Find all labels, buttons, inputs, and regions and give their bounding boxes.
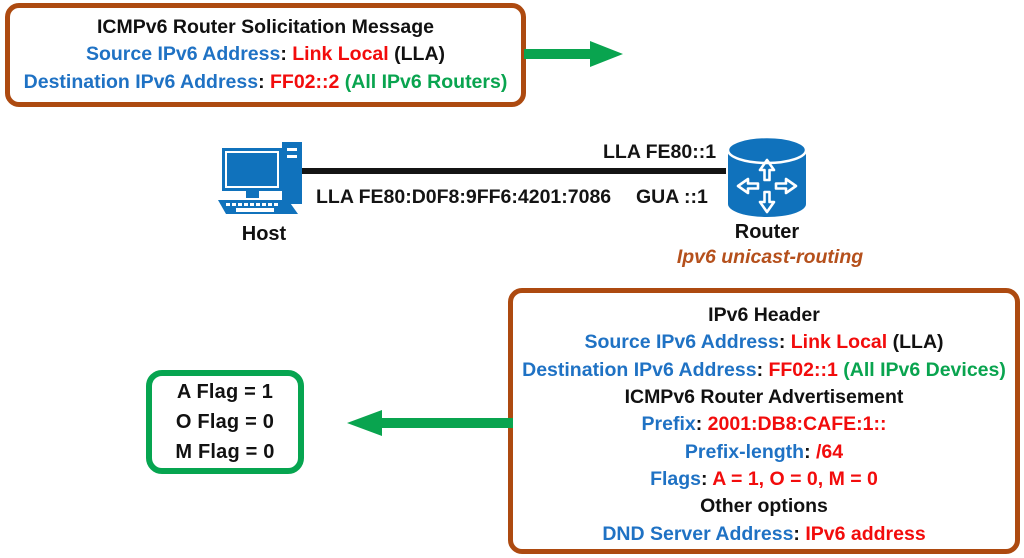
colon: : <box>793 523 800 545</box>
router-advertisement-callout: IPv6 Header Source IPv6 Address: Link Lo… <box>508 288 1020 554</box>
colon: : <box>696 413 703 435</box>
ra-destination-label: Destination IPv6 Address <box>522 359 756 381</box>
advertisement-flow-arrow <box>345 408 513 438</box>
ra-title: ICMPv6 Router Advertisement <box>513 385 1015 410</box>
solicitation-source-value: Link Local <box>292 43 388 65</box>
ra-source-label: Source IPv6 Address <box>584 331 778 353</box>
solicitation-source-label: Source IPv6 Address <box>86 43 280 65</box>
ra-destination-line: Destination IPv6 Address: FF02::1 (All I… <box>513 358 1015 383</box>
flags-callout: A Flag = 1 O Flag = 0 M Flag = 0 <box>146 370 304 474</box>
solicitation-source-note: (LLA) <box>394 43 445 65</box>
router-solicitation-callout: ICMPv6 Router Solicitation Message Sourc… <box>5 3 526 107</box>
solicitation-destination-value: FF02::2 <box>270 71 339 93</box>
ra-destination-note: (All IPv6 Devices) <box>843 359 1006 381</box>
solicitation-destination-note: (All IPv6 Routers) <box>345 71 508 93</box>
ra-prefix-label: Prefix <box>642 413 696 435</box>
arrow-right-icon <box>524 40 624 68</box>
ipv6-header-title: IPv6 Header <box>513 303 1015 328</box>
solicitation-title: ICMPv6 Router Solicitation Message <box>10 15 521 40</box>
colon: : <box>280 43 287 65</box>
ra-other-options-title: Other options <box>513 494 1015 519</box>
ra-prefix-length-value: /64 <box>816 441 843 463</box>
o-flag-line: O Flag = 0 <box>176 409 274 435</box>
ra-dns-line: DND Server Address: IPv6 address <box>513 522 1015 547</box>
ra-dns-value: IPv6 address <box>805 523 925 545</box>
router-lla-label: LLA FE80::1 <box>603 141 716 164</box>
router-icon <box>726 136 808 218</box>
ra-flags-label: Flags <box>650 468 701 490</box>
ra-source-line: Source IPv6 Address: Link Local (LLA) <box>513 330 1015 355</box>
colon: : <box>258 71 265 93</box>
ra-source-value: Link Local <box>791 331 887 353</box>
colon: : <box>757 359 764 381</box>
colon: : <box>804 441 811 463</box>
m-flag-line: M Flag = 0 <box>175 439 274 465</box>
host-icon <box>216 140 312 218</box>
arrow-left-icon <box>345 408 513 438</box>
solicitation-source-line: Source IPv6 Address: Link Local (LLA) <box>10 42 521 67</box>
ra-destination-value: FF02::1 <box>768 359 837 381</box>
ra-flags-line: Flags: A = 1, O = 0, M = 0 <box>513 467 1015 492</box>
ra-dns-label: DND Server Address <box>602 523 793 545</box>
host-label: Host <box>216 223 312 246</box>
host-lla-label: LLA FE80:D0F8:9FF6:4201:7086 <box>316 186 611 209</box>
network-link-line <box>302 168 726 174</box>
router-command-label: Ipv6 unicast-routing <box>663 246 877 269</box>
cisco-router-icon <box>726 136 808 218</box>
ra-prefix-length-line: Prefix-length: /64 <box>513 440 1015 465</box>
desktop-computer-icon <box>216 140 312 218</box>
ra-prefix-value: 2001:DB8:CAFE:1:: <box>708 413 887 435</box>
colon: : <box>779 331 786 353</box>
ra-prefix-length-label: Prefix-length <box>685 441 804 463</box>
router-gua-label: GUA ::1 <box>636 186 708 209</box>
solicitation-destination-line: Destination IPv6 Address: FF02::2 (All I… <box>10 70 521 95</box>
solicitation-destination-label: Destination IPv6 Address <box>24 71 258 93</box>
ra-source-note: (LLA) <box>893 331 944 353</box>
router-label: Router <box>710 221 824 244</box>
ra-flags-value: A = 1, O = 0, M = 0 <box>712 468 878 490</box>
a-flag-line: A Flag = 1 <box>177 379 273 405</box>
solicitation-flow-arrow <box>524 40 624 68</box>
ra-prefix-line: Prefix: 2001:DB8:CAFE:1:: <box>513 412 1015 437</box>
colon: : <box>701 468 708 490</box>
